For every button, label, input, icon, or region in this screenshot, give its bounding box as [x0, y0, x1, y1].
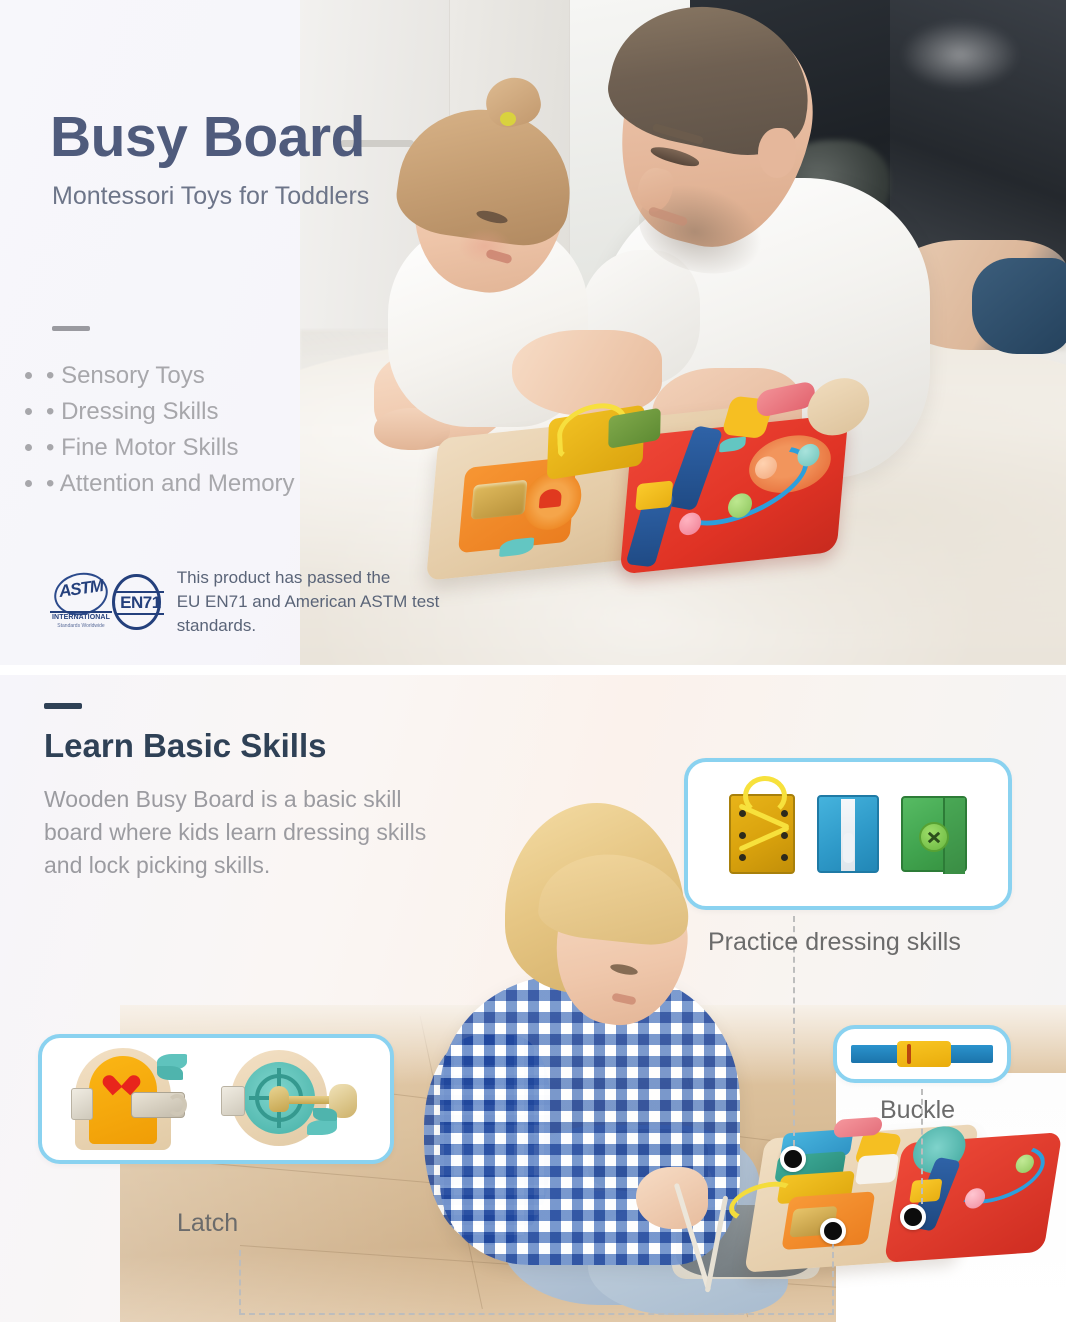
- toy-yellow-buckle: [635, 480, 673, 510]
- certification-statement: This product has passed the EU EN71 and …: [177, 566, 470, 638]
- zipper-panel-swatch: [817, 795, 879, 873]
- buckle-icon: [897, 1041, 951, 1067]
- callout-dot-buckle[interactable]: [900, 1204, 926, 1230]
- connector-latch-riser: [832, 1233, 834, 1315]
- leaf-decor-secondary: [313, 1108, 337, 1121]
- page-title: Busy Board: [50, 104, 365, 170]
- lace-eyelet: [781, 810, 788, 817]
- certification-line-1: This product has passed the: [177, 566, 470, 590]
- lace-eyelet: [781, 832, 788, 839]
- certification-block: ASTM INTERNATIONAL Standards Worldwide E…: [50, 566, 470, 638]
- callout-dot-latch[interactable]: [820, 1218, 846, 1244]
- button-icon: [919, 822, 949, 852]
- feature-list: Sensory Toys Dressing Skills Fine Motor …: [46, 358, 295, 502]
- lace-eyelet: [739, 810, 746, 817]
- father-jeans: [972, 258, 1066, 354]
- en71-badge-icon: EN71: [112, 574, 160, 630]
- boy-hand: [636, 1167, 708, 1229]
- appliance-highlight: [900, 20, 1020, 90]
- label-latch: Latch: [177, 1209, 238, 1238]
- hasp-latch-door: [71, 1046, 191, 1152]
- button-panel-swatch: [901, 796, 967, 872]
- astm-international-label: INTERNATIONAL: [50, 611, 112, 621]
- card-buckle[interactable]: [833, 1025, 1011, 1083]
- toy-brass-latch: [471, 480, 528, 520]
- divider-dash: [52, 326, 90, 331]
- list-item: Dressing Skills: [46, 394, 295, 430]
- lace-eyelet: [739, 832, 746, 839]
- astm-tagline: Standards Worldwide: [50, 623, 112, 629]
- connector-latch-vertical: [239, 1250, 241, 1315]
- lacing-panel-swatch: [729, 794, 795, 874]
- card-latch[interactable]: [38, 1034, 394, 1164]
- en71-bar-bottom: [116, 613, 164, 615]
- buckle-slot: [907, 1044, 911, 1064]
- side-release-buckle-strap: [851, 1041, 993, 1067]
- heart-icon: [111, 1072, 135, 1094]
- certification-line-2: EU EN71 and American ASTM test standards…: [177, 590, 470, 638]
- list-item: Fine Motor Skills: [46, 430, 295, 466]
- leaf-decor: [307, 1120, 337, 1135]
- label-buckle: Buckle: [880, 1096, 955, 1125]
- en71-name: EN71: [115, 593, 165, 613]
- section-body-text: Wooden Busy Board is a basic skill board…: [44, 783, 434, 882]
- product-page: Busy Board Montessori Toys for Toddlers …: [0, 0, 1066, 1322]
- lace-eyelet: [739, 854, 746, 861]
- list-item: Sensory Toys: [46, 358, 295, 394]
- divider-dash-dark: [44, 703, 82, 709]
- section-heading: Learn Basic Skills: [44, 727, 464, 765]
- sliding-bolt-door: [221, 1046, 361, 1152]
- hasp-loop-icon: [167, 1094, 187, 1116]
- connector-latch-horizontal: [239, 1313, 834, 1315]
- toy2-yellow-buckle: [909, 1179, 942, 1203]
- page-subtitle: Montessori Toys for Toddlers: [52, 182, 369, 211]
- father-ear: [758, 128, 796, 178]
- hinge-icon: [71, 1088, 93, 1120]
- hinge-icon: [221, 1086, 245, 1116]
- toy2-white-shape: [855, 1154, 899, 1185]
- bolt-knob-icon: [269, 1086, 289, 1112]
- callout-dot-dressing[interactable]: [780, 1146, 806, 1172]
- hero-text-block: Busy Board Montessori Toys for Toddlers …: [0, 0, 470, 665]
- hero-section: Busy Board Montessori Toys for Toddlers …: [0, 0, 1066, 665]
- label-practice-dressing-skills: Practice dressing skills: [708, 928, 961, 957]
- astm-badge-icon: ASTM INTERNATIONAL Standards Worldwide: [50, 571, 102, 633]
- toddler-hair-tie: [500, 112, 516, 126]
- leaf-decor-secondary: [157, 1066, 183, 1080]
- toy-pink-pad: [757, 380, 815, 418]
- zipper-pull-icon: [843, 833, 854, 863]
- list-item: Attention and Memory: [46, 466, 295, 502]
- lace-eyelet: [781, 854, 788, 861]
- skills-text-block: Learn Basic Skills Wooden Busy Board is …: [44, 703, 464, 882]
- card-practice-dressing-skills[interactable]: [684, 758, 1012, 910]
